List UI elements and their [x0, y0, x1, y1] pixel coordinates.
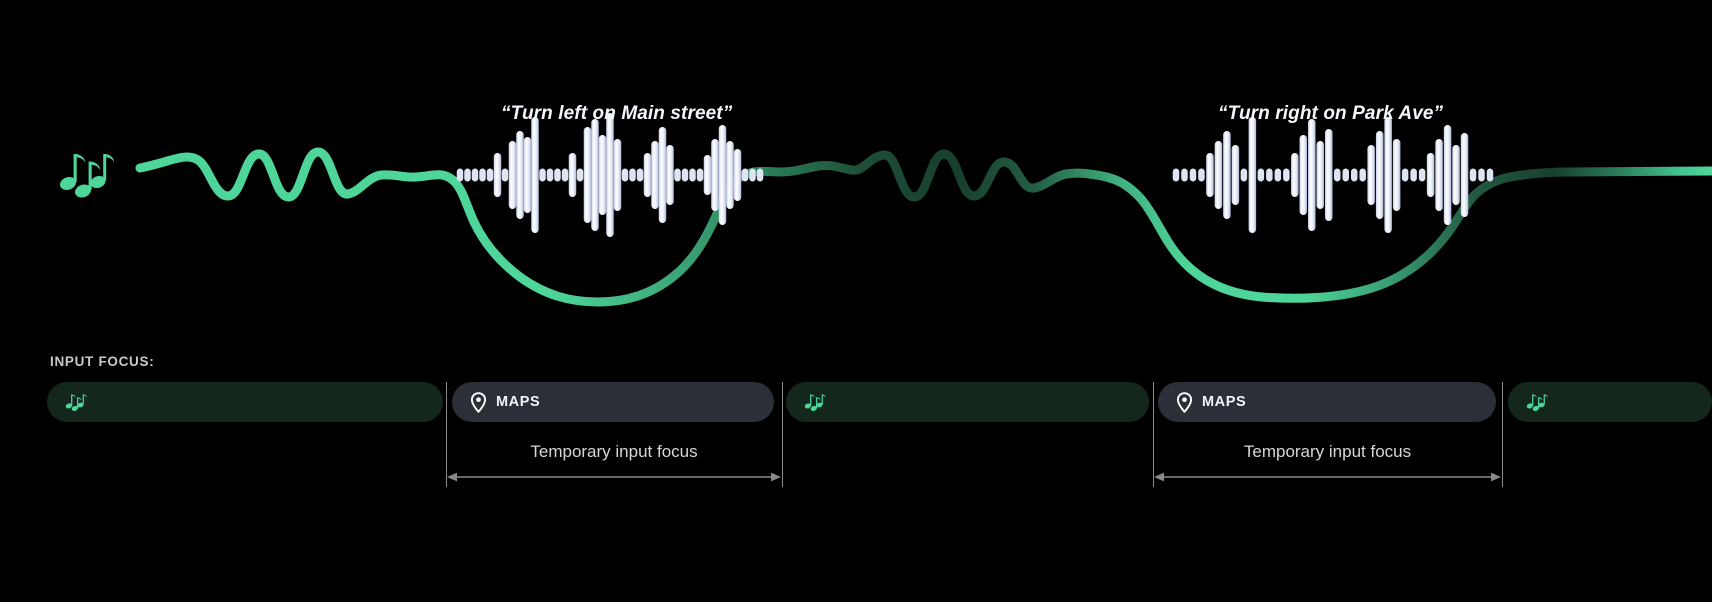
speech-bar [697, 169, 704, 182]
speech-bar [629, 169, 636, 182]
speech-bar [1181, 169, 1188, 182]
input-focus-label: INPUT FOCUS: [50, 354, 154, 369]
speech-bar [539, 169, 546, 182]
speech-bar [1232, 145, 1240, 205]
speech-bar [1249, 117, 1257, 233]
speech-bar [584, 127, 592, 223]
music-notes-icon [1526, 391, 1548, 413]
input-focus-track: MAPS MAPS [0, 382, 1712, 422]
speech-bar [659, 127, 667, 223]
speech-bar [1223, 131, 1231, 219]
speech-bar [1308, 119, 1316, 231]
speech-bar [1300, 135, 1308, 215]
focus-span-guide [782, 382, 783, 487]
speech-bar [622, 169, 629, 182]
speech-bar [1190, 169, 1197, 182]
music-notes-icon [65, 391, 87, 413]
speech-bar [1173, 169, 1180, 182]
focus-segment-music[interactable] [47, 382, 443, 422]
speech-bar [577, 169, 584, 182]
speech-bar [472, 169, 479, 182]
speech-bar [614, 139, 622, 211]
speech-bar [1351, 169, 1358, 182]
focus-span-label: Temporary input focus [1153, 442, 1502, 462]
speech-bar [1291, 153, 1299, 197]
caption-command-2: “Turn right on Park Ave” [1218, 103, 1443, 125]
speech-bar [1215, 141, 1223, 209]
speech-bar [689, 169, 696, 182]
speech-bar [1241, 169, 1248, 182]
speech-bar [487, 169, 494, 182]
speech-bar [524, 137, 532, 213]
focus-segment-music[interactable] [786, 382, 1149, 422]
speech-bar [1317, 141, 1325, 209]
speech-bar [1393, 139, 1401, 211]
speech-bar [1376, 131, 1384, 219]
speech-bar [464, 169, 471, 182]
speech-bar [666, 145, 674, 205]
focus-segment-label: MAPS [496, 394, 540, 410]
speech-bar [1198, 169, 1205, 182]
speech-bar [1402, 169, 1409, 182]
speech-bar [749, 169, 756, 182]
speech-bar [562, 169, 569, 182]
speech-bar [734, 149, 742, 201]
speech-bar [502, 169, 509, 182]
speech-bar [1427, 153, 1435, 197]
speech-bar [1435, 139, 1443, 211]
speech-bar [554, 169, 561, 182]
speech-bars-command-2 [1173, 117, 1494, 233]
speech-bar [591, 119, 599, 231]
speech-bar [719, 125, 727, 225]
focus-segment-label: MAPS [1202, 394, 1246, 410]
music-notes-icon [57, 148, 117, 204]
speech-bar [637, 169, 644, 182]
speech-bar [1419, 169, 1426, 182]
speech-bar [1266, 169, 1273, 182]
focus-span-guide [1502, 382, 1503, 487]
map-pin-icon [470, 392, 487, 413]
speech-bar [479, 169, 486, 182]
speech-bar [531, 117, 539, 233]
speech-bar [1452, 145, 1460, 205]
speech-bar [742, 169, 749, 182]
focus-span-arrow [1153, 470, 1502, 484]
focus-span-arrow [446, 470, 782, 484]
speech-bar [757, 169, 764, 182]
speech-bar [651, 141, 659, 209]
speech-bar [494, 153, 502, 197]
speech-bar [1470, 169, 1477, 182]
speech-bar [599, 135, 607, 215]
speech-bar [682, 169, 689, 182]
focus-segment-app[interactable]: MAPS [1158, 382, 1496, 422]
speech-bar [1461, 133, 1469, 217]
speech-bar [1410, 169, 1417, 182]
speech-bar [457, 169, 464, 182]
speech-bar [704, 155, 712, 195]
speech-bar [1478, 169, 1485, 182]
speech-bar [1384, 117, 1392, 233]
waveform-area: “Turn left on Main street” “Turn right o… [0, 0, 1712, 330]
voice-focus-diagram: “Turn left on Main street” “Turn right o… [0, 0, 1712, 602]
speech-bar [726, 141, 734, 209]
speech-bar [1359, 169, 1366, 182]
speech-bar [674, 169, 681, 182]
speech-bar [1283, 169, 1290, 182]
speech-bar [711, 139, 719, 211]
waveform-svg [0, 0, 1712, 330]
speech-bar [644, 153, 652, 197]
speech-bar [1342, 169, 1349, 182]
speech-bar [1487, 169, 1494, 182]
speech-bar [547, 169, 554, 182]
music-notes-icon [804, 391, 826, 413]
speech-bar [569, 153, 577, 197]
focus-segment-music[interactable] [1508, 382, 1712, 422]
input-focus-section: INPUT FOCUS: MAPS MAPS Te [0, 330, 1712, 602]
speech-bar [1444, 125, 1452, 225]
speech-bar [1275, 169, 1282, 182]
caption-command-1: “Turn left on Main street” [501, 103, 732, 125]
focus-span-label: Temporary input focus [446, 442, 782, 462]
speech-bar [1258, 169, 1265, 182]
speech-bar [1367, 145, 1375, 205]
speech-bar [1325, 129, 1333, 221]
map-pin-icon [1176, 392, 1193, 413]
focus-segment-app[interactable]: MAPS [452, 382, 774, 422]
speech-bar [509, 141, 517, 209]
speech-bar [1206, 153, 1214, 197]
speech-bar [606, 113, 614, 237]
speech-bar [516, 131, 524, 219]
speech-bar [1334, 169, 1341, 182]
